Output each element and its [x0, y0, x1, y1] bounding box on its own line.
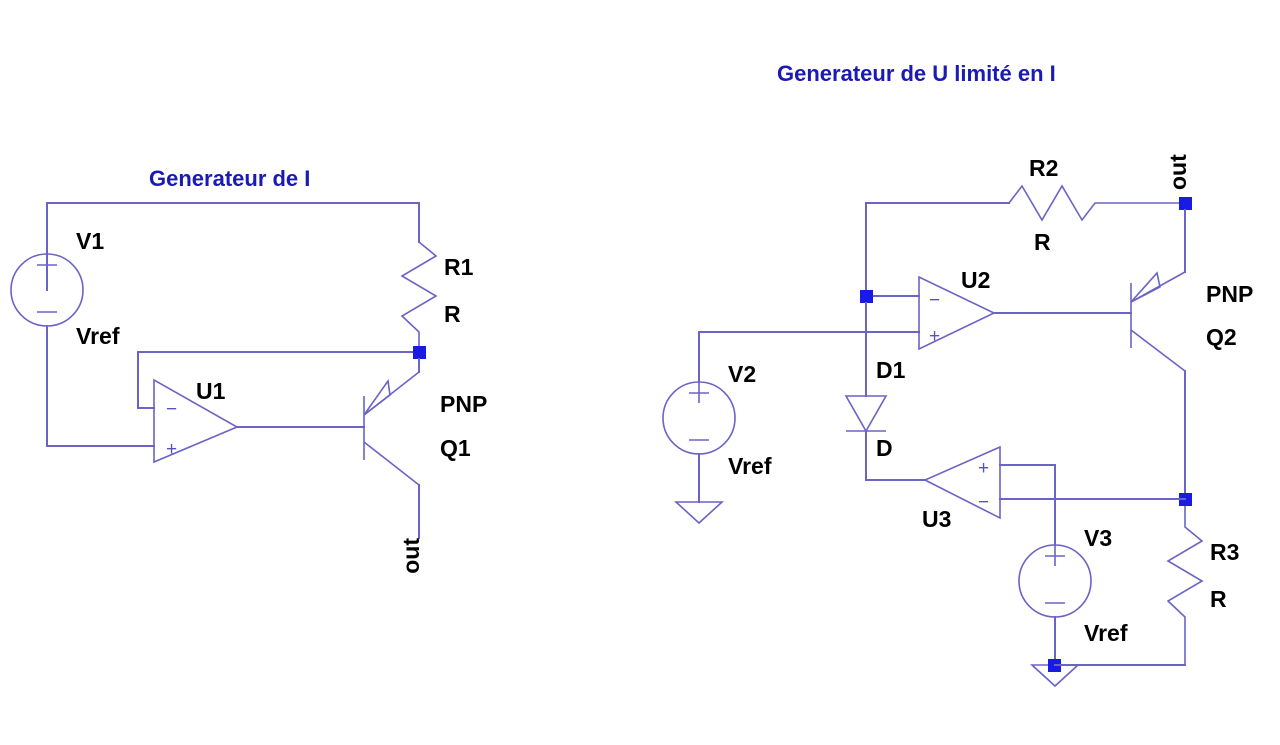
r1-value-label: R: [444, 301, 461, 327]
circuit-schematic-canvas: Generateur de I V1 Vref R1 R − + U1: [0, 0, 1280, 745]
diode-d1: [846, 396, 886, 431]
u2-noninverting-pin-label: +: [929, 326, 940, 347]
left-output-label: out: [398, 538, 424, 574]
v1-plus-sign: [37, 255, 57, 275]
d1-ref-label: D1: [876, 357, 906, 383]
u3-inverting-pin-label: −: [978, 492, 989, 513]
u2-ref-label: U2: [961, 267, 990, 293]
u1-inverting-pin-label: −: [166, 399, 177, 420]
r3-value-label: R: [1210, 586, 1227, 612]
r3-ref-label: R3: [1210, 539, 1239, 565]
q1-collector-lead: [364, 442, 419, 485]
v2-value-label: Vref: [728, 453, 772, 479]
v3-plus-sign: [1045, 546, 1065, 566]
r2-ref-label: R2: [1029, 155, 1058, 181]
ground-symbol-v2: [676, 502, 722, 523]
r1-ref-label: R1: [444, 254, 474, 280]
u1-noninverting-pin-label: +: [166, 439, 177, 460]
q2-ref-label: Q2: [1206, 324, 1237, 350]
d1-value-label: D: [876, 435, 893, 461]
resistor-r3: [1168, 506, 1202, 665]
transistor-q2: [1131, 272, 1185, 371]
junction-dot-r1-bottom: [413, 346, 426, 359]
v2-ref-label: V2: [728, 361, 756, 387]
r3-zigzag: [1168, 506, 1202, 665]
q1-type-label: PNP: [440, 391, 487, 417]
junction-dot-u2-minus-node: [860, 290, 873, 303]
q1-ref-label: Q1: [440, 435, 471, 461]
u1-ref-label: U1: [196, 378, 226, 404]
r2-value-label: R: [1034, 229, 1051, 255]
v3-value-label: Vref: [1084, 620, 1128, 646]
d1-triangle-body: [846, 396, 886, 431]
wire-feedback-to-u1-minus: [138, 352, 419, 408]
voltage-source-v2: [663, 382, 735, 454]
left-circuit-title: Generateur de I: [149, 166, 310, 191]
v1-ref-label: V1: [76, 228, 104, 254]
q2-type-label: PNP: [1206, 281, 1253, 307]
u2-inverting-pin-label: −: [929, 290, 940, 311]
wire-d1-to-u3-output: [866, 431, 925, 480]
right-output-label: out: [1165, 154, 1191, 190]
q2-collector-lead: [1131, 330, 1185, 371]
v3-ref-label: V3: [1084, 525, 1112, 551]
resistor-r2: [1009, 186, 1185, 220]
right-circuit-title: Generateur de U limité en I: [777, 61, 1056, 86]
q1-emitter-arrow: [364, 381, 390, 415]
wire-u3-plus-to-v3: [1000, 465, 1055, 545]
v1-value-label: Vref: [76, 323, 120, 349]
r1-zigzag: [402, 242, 436, 352]
r2-zigzag: [1009, 186, 1185, 220]
voltage-source-v3: [1019, 545, 1091, 617]
right-circuit-group: Generateur de U limité en I R2 R out V2 …: [663, 61, 1253, 686]
transistor-q1: [364, 372, 419, 485]
u3-noninverting-pin-label: +: [978, 458, 989, 479]
v2-plus-sign: [689, 383, 709, 403]
resistor-r1: [402, 242, 436, 352]
u3-ref-label: U3: [922, 506, 951, 532]
left-circuit-group: Generateur de I V1 Vref R1 R − + U1: [11, 166, 487, 574]
junction-dot-output-node: [1179, 197, 1192, 210]
